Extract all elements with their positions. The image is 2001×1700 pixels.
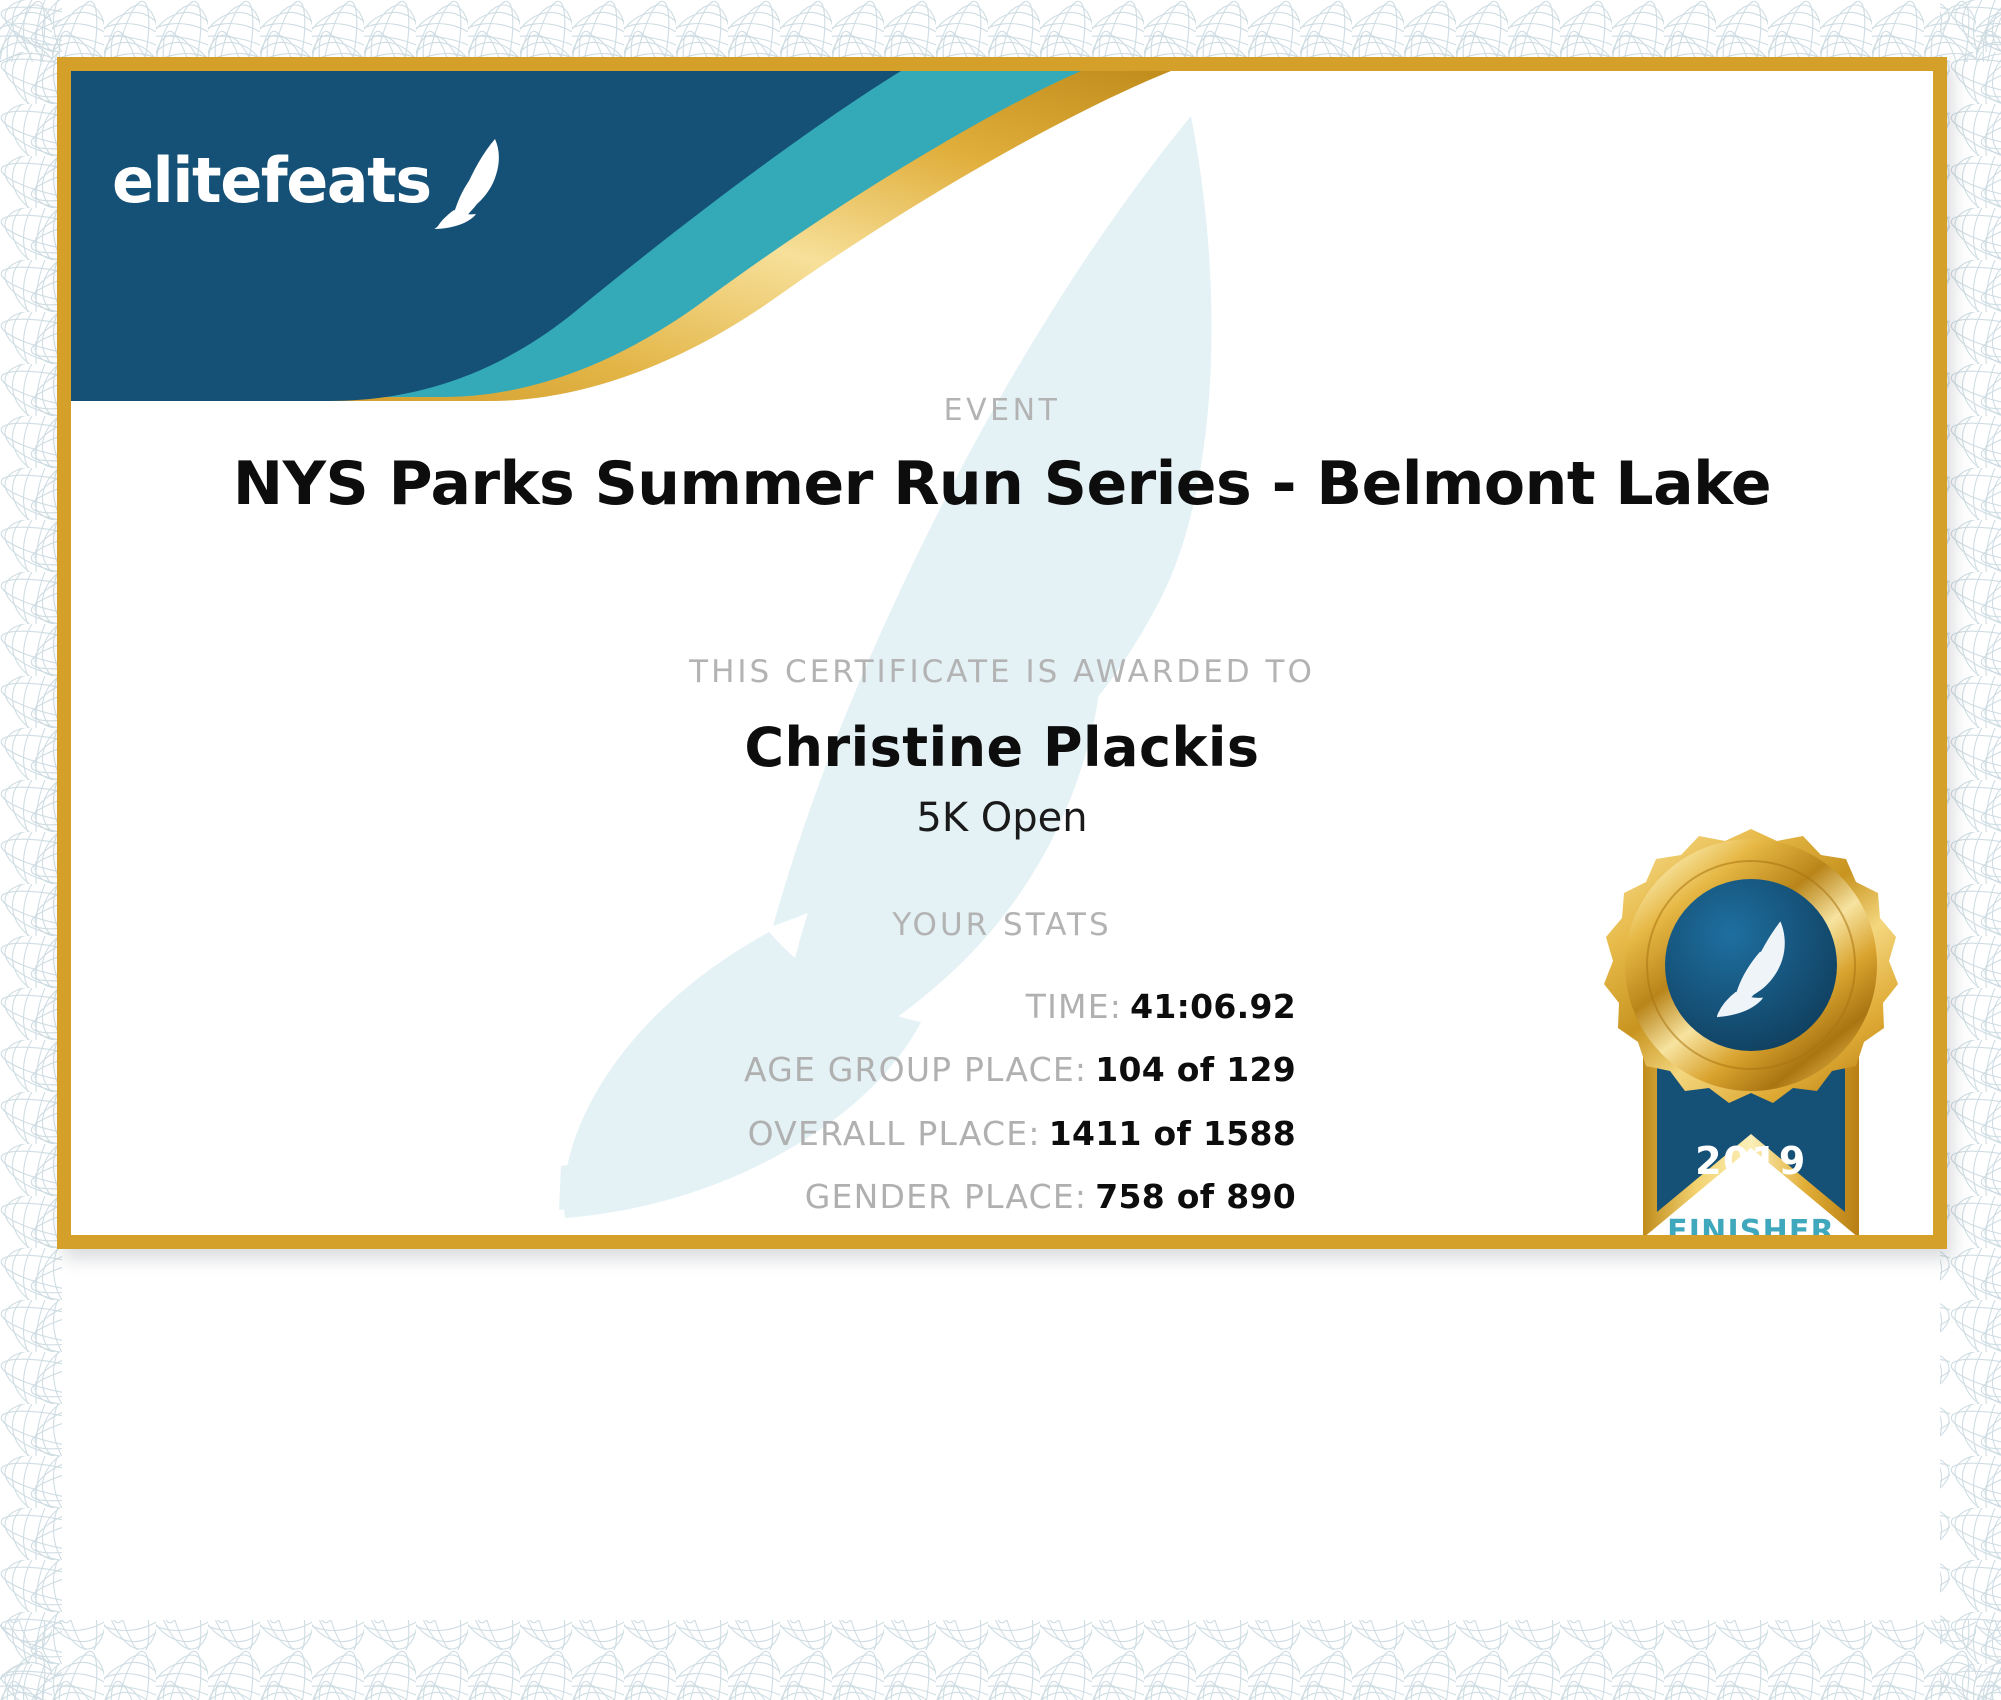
seal-caption-line1: FINISHER <box>1571 1214 1931 1235</box>
finisher-medal-seal: 2019 <box>1571 826 1931 1235</box>
gold-frame: elitefeats EVENT NYS Parks Summer Run Se… <box>57 57 1947 1249</box>
brand-logo: elitefeats <box>112 133 511 229</box>
recipient-name: Christine Plackis <box>71 716 1933 779</box>
winged-foot-icon <box>433 137 511 229</box>
awarded-to-label: THIS CERTIFICATE IS AWARDED TO <box>71 654 1933 690</box>
seal-caption: FINISHER CERTIFICATE <box>1571 1214 1931 1235</box>
event-label: EVENT <box>71 393 1933 428</box>
header-swoosh <box>71 71 1171 401</box>
stat-value: 41:06.92 <box>1130 987 1296 1026</box>
stat-value: 1411 of 1588 <box>1049 1114 1296 1153</box>
stat-row-overall-place: OVERALL PLACE:1411 of 1588 <box>71 1113 1296 1154</box>
stat-key: TIME: <box>1026 987 1122 1026</box>
stat-value: 758 of 890 <box>1095 1177 1296 1216</box>
stat-row-age-group-place: AGE GROUP PLACE:104 of 129 <box>71 1049 1296 1090</box>
stat-key: OVERALL PLACE: <box>748 1114 1041 1153</box>
stat-row-time: TIME:41:06.92 <box>71 986 1296 1027</box>
stat-value: 104 of 129 <box>1095 1050 1296 1089</box>
certificate-card: elitefeats EVENT NYS Parks Summer Run Se… <box>71 71 1933 1235</box>
stat-key: AGE GROUP PLACE: <box>744 1050 1087 1089</box>
seal-year: 2019 <box>1695 1139 1807 1183</box>
stat-key: GENDER PLACE: <box>805 1177 1087 1216</box>
event-title: NYS Parks Summer Run Series - Belmont La… <box>71 449 1933 519</box>
certificate-page: elitefeats EVENT NYS Parks Summer Run Se… <box>0 0 2001 1700</box>
stat-row-gender-place: GENDER PLACE:758 of 890 <box>71 1176 1296 1217</box>
stats-block: TIME:41:06.92 AGE GROUP PLACE:104 of 129… <box>71 986 1296 1235</box>
brand-logo-text: elitefeats <box>112 150 431 212</box>
